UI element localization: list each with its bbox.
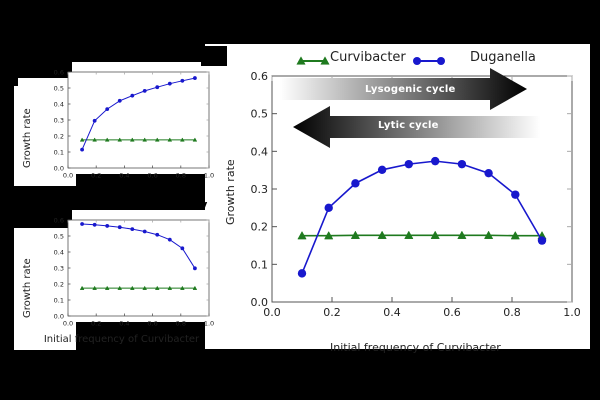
svg-text:0.8: 0.8 — [176, 172, 186, 180]
svg-text:0.6: 0.6 — [54, 68, 64, 76]
svg-text:0.1: 0.1 — [54, 148, 64, 156]
svg-text:0.0: 0.0 — [54, 164, 64, 172]
main-x-axis-label: Initial frequency of Curvibacter — [330, 341, 501, 354]
svg-text:0.2: 0.2 — [323, 306, 341, 319]
svg-text:0.6: 0.6 — [443, 306, 461, 319]
inset-lytic-chart: 0.00.20.40.60.81.00.00.10.20.30.40.50.6 — [40, 64, 215, 186]
svg-text:0.5: 0.5 — [54, 232, 64, 240]
svg-text:0.4: 0.4 — [54, 100, 64, 108]
svg-text:1.0: 1.0 — [563, 306, 581, 319]
svg-text:0.3: 0.3 — [54, 264, 64, 272]
svg-text:0.0: 0.0 — [251, 296, 269, 309]
svg-text:0.8: 0.8 — [503, 306, 521, 319]
svg-text:0.2: 0.2 — [251, 221, 269, 234]
inset-lysogenic-y-axis-label: Growth rate — [22, 258, 33, 318]
svg-text:0.8: 0.8 — [176, 320, 186, 328]
svg-text:0.6: 0.6 — [54, 216, 64, 224]
svg-text:0.4: 0.4 — [119, 320, 129, 328]
inset-lysogenic-x-axis-label: Initial frequency of Curvibacter — [24, 334, 219, 345]
svg-text:0.0: 0.0 — [63, 172, 73, 180]
svg-text:0.2: 0.2 — [91, 320, 101, 328]
svg-text:1.0: 1.0 — [204, 320, 214, 328]
panel-marker-b — [12, 196, 38, 216]
svg-text:0.0: 0.0 — [54, 312, 64, 320]
svg-text:0.4: 0.4 — [119, 172, 129, 180]
svg-text:0.0: 0.0 — [63, 320, 73, 328]
panel-marker-a — [201, 46, 227, 66]
inset-lysogenic-chart: 0.00.20.40.60.81.00.00.10.20.30.40.50.6 — [40, 212, 215, 334]
svg-text:0.3: 0.3 — [251, 183, 269, 196]
svg-text:0.4: 0.4 — [54, 248, 64, 256]
svg-text:0.2: 0.2 — [54, 132, 64, 140]
svg-text:0.4: 0.4 — [383, 306, 401, 319]
panel-marker-c — [0, 66, 18, 86]
svg-text:0.2: 0.2 — [91, 172, 101, 180]
lytic-arrow-label: Lytic cycle — [378, 120, 439, 131]
svg-text:0.2: 0.2 — [54, 280, 64, 288]
inset-lytic-y-axis-label: Growth rate — [22, 108, 33, 168]
svg-text:0.1: 0.1 — [251, 258, 269, 271]
svg-text:0.5: 0.5 — [54, 84, 64, 92]
cycle-arrows — [275, 72, 575, 144]
svg-text:0.6: 0.6 — [251, 70, 269, 83]
lysogenic-arrow-label: Lysogenic cycle — [365, 84, 456, 95]
svg-text:0.1: 0.1 — [54, 296, 64, 304]
svg-text:0.6: 0.6 — [147, 320, 157, 328]
svg-text:0.4: 0.4 — [251, 145, 269, 158]
svg-text:0.3: 0.3 — [54, 116, 64, 124]
svg-text:1.0: 1.0 — [204, 172, 214, 180]
svg-text:0.5: 0.5 — [251, 108, 269, 121]
svg-text:0.6: 0.6 — [147, 172, 157, 180]
inset-lysogenic-title: Lysogenic cycle only — [52, 199, 242, 211]
